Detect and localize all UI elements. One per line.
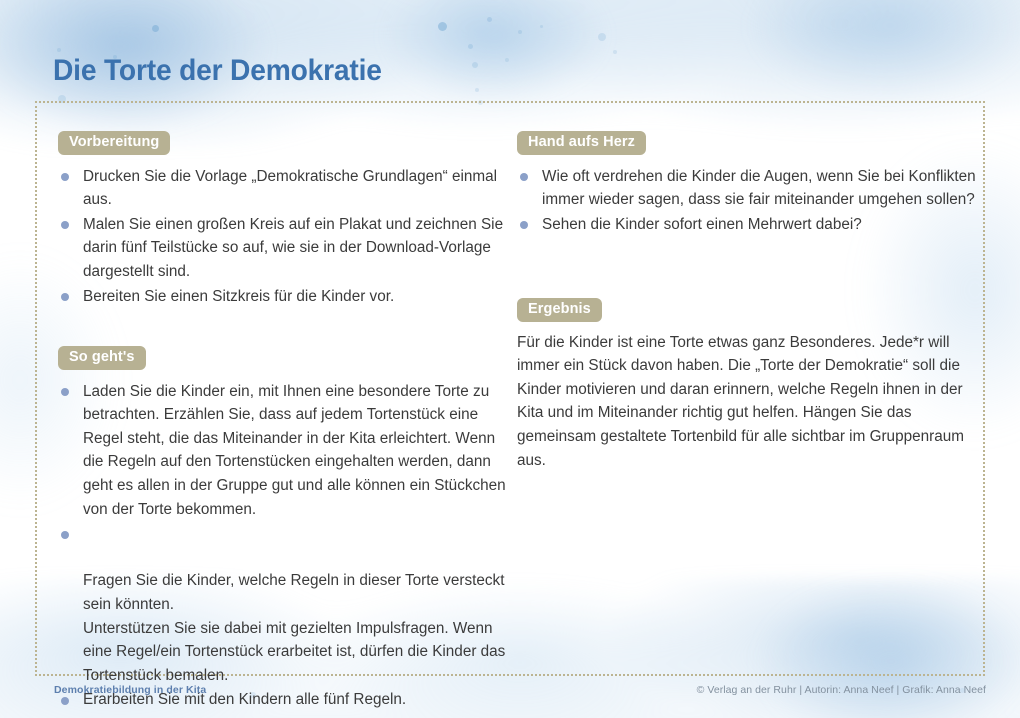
bullet-icon <box>520 173 528 181</box>
list-item-text: Malen Sie einen großen Kreis auf ein Pla… <box>83 216 503 280</box>
content-frame: Vorbereitung Drucken Sie die Vorlage „De… <box>35 101 985 676</box>
bullet-icon <box>61 293 69 301</box>
list-item: Fragen Sie die Kinder, welche Regeln in … <box>58 522 518 687</box>
footer-credits: © Verlag an der Ruhr | Autorin: Anna Nee… <box>697 684 986 696</box>
bullet-icon <box>61 531 69 539</box>
list-item-text: Bereiten Sie einen Sitzkreis für die Kin… <box>83 288 394 305</box>
section-badge-hand-aufs-herz: Hand aufs Herz <box>517 131 646 155</box>
splatter-dot <box>518 30 522 34</box>
section-so-gehts: So geht's Laden Sie die Kinder ein, mit … <box>58 346 518 713</box>
splatter-dot <box>57 48 61 52</box>
section-badge-vorbereitung: Vorbereitung <box>58 131 170 155</box>
list-item: Bereiten Sie einen Sitzkreis für die Kin… <box>58 285 518 309</box>
splatter-dot <box>152 25 159 32</box>
list-item-text: Sehen die Kinder sofort einen Mehrwert d… <box>542 216 862 233</box>
list-item: Drucken Sie die Vorlage „Demokratische G… <box>58 165 518 212</box>
section-hand-aufs-herz: Hand aufs Herz Wie oft verdrehen die Kin… <box>517 131 977 237</box>
page: Die Torte der Demokratie Vorbereitung Dr… <box>0 0 1020 718</box>
splatter-dot <box>505 58 509 62</box>
list-item: Sehen die Kinder sofort einen Mehrwert d… <box>517 213 977 237</box>
section-ergebnis: Ergebnis Für die Kinder ist eine Torte e… <box>517 298 977 472</box>
list-item: Malen Sie einen großen Kreis auf ein Pla… <box>58 213 518 284</box>
list-item-text: Drucken Sie die Vorlage „Demokratische G… <box>83 168 497 209</box>
bullet-icon <box>61 221 69 229</box>
bullet-icon <box>61 388 69 396</box>
splatter-dot <box>438 22 447 31</box>
list-item-text: Fragen Sie die Kinder, welche Regeln in … <box>83 572 505 683</box>
bullet-icon <box>520 221 528 229</box>
list-item: Wie oft verdrehen die Kinder die Augen, … <box>517 165 977 212</box>
list-item-text: Wie oft verdrehen die Kinder die Augen, … <box>542 168 976 209</box>
splatter-dot <box>598 33 606 41</box>
section-badge-so-gehts: So geht's <box>58 346 146 370</box>
so-gehts-list: Laden Sie die Kinder ein, mit Ihnen eine… <box>58 380 518 712</box>
vorbereitung-list: Drucken Sie die Vorlage „Demokratische G… <box>58 165 518 309</box>
hand-aufs-herz-list: Wie oft verdrehen die Kinder die Augen, … <box>517 165 977 237</box>
bullet-icon <box>61 173 69 181</box>
section-vorbereitung: Vorbereitung Drucken Sie die Vorlage „De… <box>58 131 518 309</box>
splatter-dot <box>487 17 492 22</box>
footer-series-label: Demokratiebildung in der Kita <box>54 684 206 696</box>
splatter-dot <box>472 62 478 68</box>
ergebnis-paragraph: Für die Kinder ist eine Torte etwas ganz… <box>517 331 977 473</box>
list-item: Laden Sie die Kinder ein, mit Ihnen eine… <box>58 380 518 522</box>
page-title: Die Torte der Demokratie <box>53 54 382 88</box>
section-badge-ergebnis: Ergebnis <box>517 298 602 322</box>
list-item-text: Laden Sie die Kinder ein, mit Ihnen eine… <box>83 383 506 518</box>
bullet-icon <box>61 697 69 705</box>
splatter-dot <box>613 50 617 54</box>
splatter-dot <box>468 44 473 49</box>
splatter-dot <box>540 25 543 28</box>
splatter-dot <box>475 88 479 92</box>
